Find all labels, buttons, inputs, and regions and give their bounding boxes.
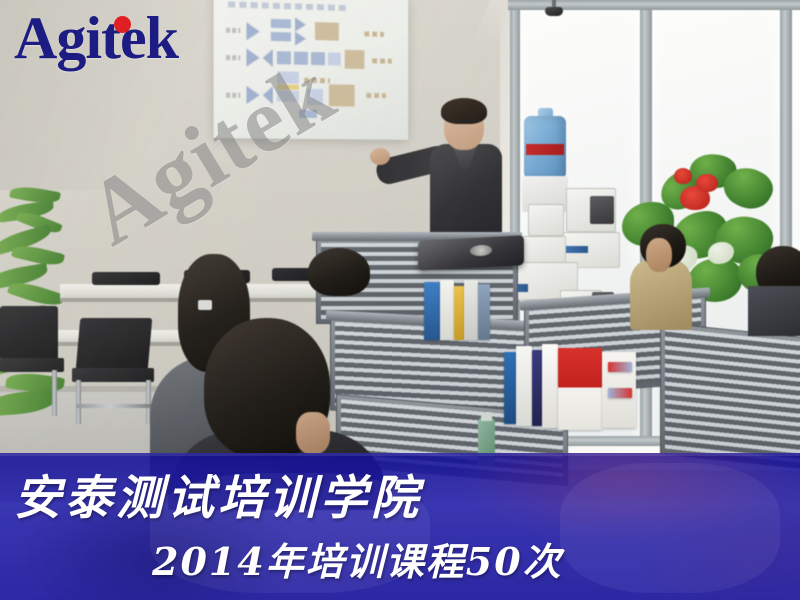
folder-red-brochure	[558, 348, 602, 430]
security-camera-icon	[545, 7, 563, 16]
slide-row-2-label	[226, 55, 240, 60]
folder-blue	[504, 352, 516, 424]
banner-title-line-2: 2014年培训课程50次	[152, 531, 563, 586]
folder-white	[464, 280, 478, 340]
water-cooler-label	[526, 144, 564, 155]
hair-clip	[198, 300, 212, 310]
slide-row-1-label	[226, 28, 240, 33]
folder-blue	[424, 282, 440, 340]
folder-graphic	[608, 388, 632, 398]
partition-louvres	[665, 328, 800, 465]
slide-row-3-right-label	[366, 93, 386, 98]
amplifier-symbol-2	[295, 17, 306, 31]
slide-block-1b	[271, 32, 291, 42]
folder-white	[440, 280, 454, 340]
folder-gray	[478, 284, 490, 340]
banner-title-line-1: 安泰测试培训学院	[14, 459, 422, 528]
chair-1-seat	[72, 368, 154, 382]
agitek-logo: Agitek	[14, 8, 178, 68]
slide-block-2e	[345, 50, 365, 69]
slide-block-1c	[315, 22, 339, 41]
bottom-banner: 安泰测试培训学院 2014年培训课程50次	[0, 453, 800, 600]
chair-1-back	[76, 318, 153, 370]
audience-4-face	[646, 238, 672, 272]
slide-row-1-right-label	[364, 31, 384, 36]
audience-head-3	[308, 248, 370, 296]
folder-yellow	[454, 286, 464, 340]
presenter-hand	[370, 148, 390, 165]
audience-2-ear-face	[296, 412, 330, 454]
chair-1-leg	[76, 380, 81, 424]
equipment-screen	[590, 196, 614, 224]
chair-2-back	[0, 306, 58, 360]
slide-block-2c	[311, 52, 325, 65]
banner-top-highlight	[0, 453, 800, 456]
audience-5-shoulders	[748, 286, 800, 336]
folder-white	[542, 344, 558, 428]
slide-row-2-right-label	[372, 58, 391, 63]
training-poster: Agitek Agitek 安泰测试培训学院 2014年培训课程50次	[0, 0, 800, 600]
folder-navy	[532, 350, 542, 426]
water-bottle-cap	[481, 412, 492, 421]
chair-2-leg	[52, 370, 57, 416]
chair-1-stretcher	[76, 404, 152, 408]
amplifier-symbol-1	[246, 22, 259, 41]
presenter-glasses	[446, 120, 480, 128]
cubicle-partition-far-right	[660, 322, 800, 470]
plant-flower	[696, 174, 718, 192]
logo-red-dot	[114, 16, 131, 33]
slide-title-text	[228, 1, 349, 11]
equipment-blue-strip	[566, 246, 588, 253]
banner-shape	[560, 463, 780, 593]
agitek-logo-text: Agitek	[14, 5, 178, 71]
chair-backrest	[92, 272, 160, 285]
folder-white	[516, 346, 532, 426]
slide-block-2d	[328, 52, 341, 65]
folder-graphic	[608, 362, 632, 372]
plant-leaf	[0, 390, 57, 417]
slide-block-1a	[271, 19, 291, 29]
equipment-unit-3	[528, 204, 564, 236]
plant-flower	[674, 168, 692, 184]
